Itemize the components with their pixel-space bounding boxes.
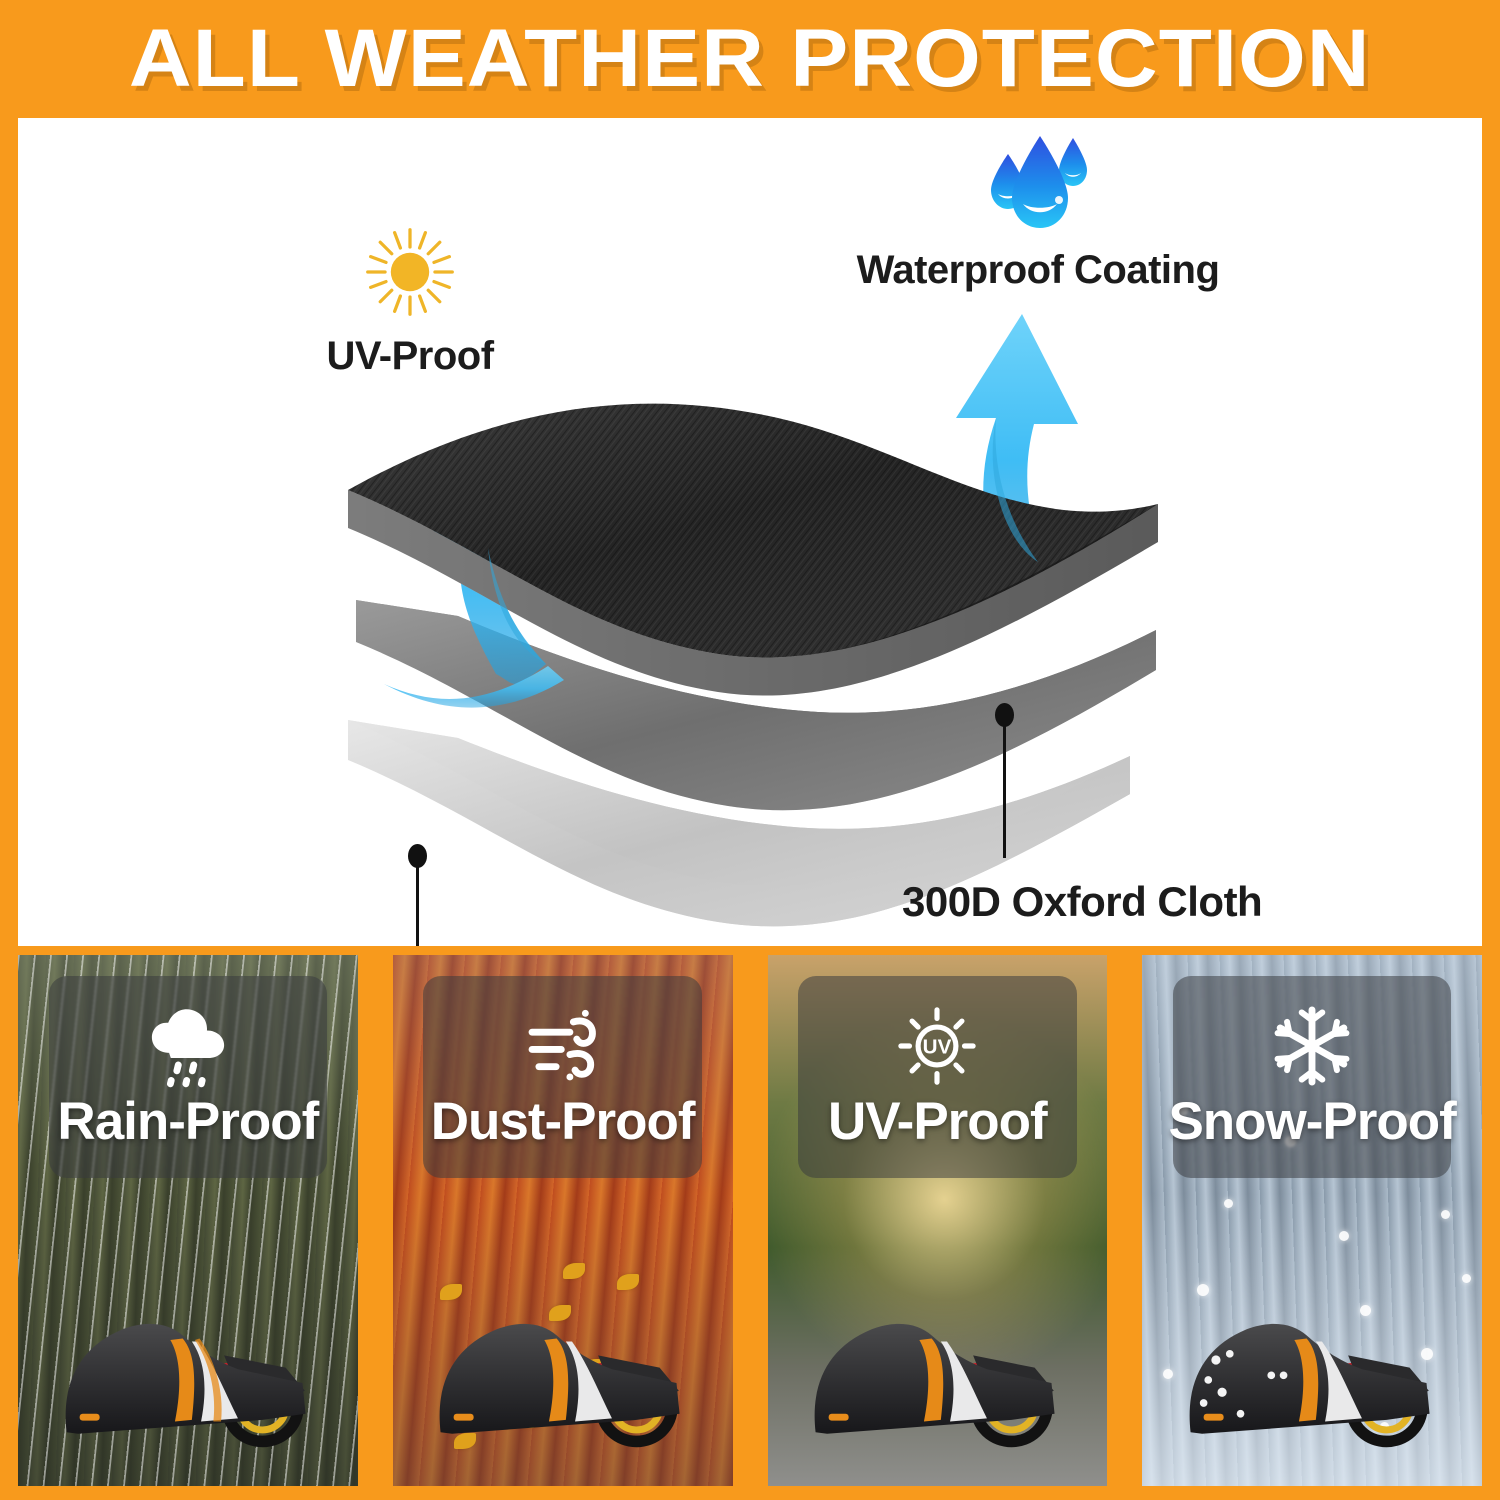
rain-proof-badge: Rain-Proof xyxy=(49,976,328,1178)
page-title: ALL WEATHER PROTECTION xyxy=(129,12,1371,106)
uv-proof-callout: UV-Proof xyxy=(280,224,540,379)
snow-proof-label: Snow-Proof xyxy=(1168,1091,1455,1152)
covered-motorcycle-illustration xyxy=(1156,1199,1479,1486)
water-drops-icon xyxy=(978,130,1098,240)
fabric-layers-diagram: UV-Proof xyxy=(18,118,1482,946)
covered-motorcycle-illustration xyxy=(781,1199,1104,1486)
uv-proof-photo-label: UV-Proof xyxy=(828,1091,1047,1152)
snowflake-icon xyxy=(1269,1003,1355,1089)
product-infographic: ALL WEATHER PROTECTION xyxy=(0,0,1500,1500)
rain-proof-label: Rain-Proof xyxy=(57,1091,318,1152)
oxford-callout-line xyxy=(1003,718,1006,858)
scene-card-snow[interactable]: Snow-Proof xyxy=(1128,955,1500,1500)
scene-card-dust[interactable]: Dust-Proof xyxy=(379,955,747,1500)
oxford-cloth-label: 300D Oxford Cloth xyxy=(902,878,1262,926)
svg-text:UV: UV xyxy=(923,1035,952,1058)
scene-card-rain[interactable]: Rain-Proof xyxy=(0,955,372,1500)
uv-proof-badge: UV UV-Proof xyxy=(798,976,1077,1178)
pu-callout-line xyxy=(416,860,419,946)
header-banner: ALL WEATHER PROTECTION xyxy=(0,0,1500,118)
dust-proof-label: Dust-Proof xyxy=(431,1091,695,1152)
scene-card-uv[interactable]: UV UV-Proof xyxy=(754,955,1122,1500)
dust-proof-badge: Dust-Proof xyxy=(423,976,702,1178)
uv-sun-icon: UV xyxy=(894,1003,980,1089)
covered-motorcycle-illustration xyxy=(32,1199,355,1486)
uv-proof-label: UV-Proof xyxy=(280,334,540,379)
wind-icon xyxy=(520,1003,606,1089)
covered-motorcycle-illustration xyxy=(406,1199,729,1486)
weather-scenes-row: Rain-Proof xyxy=(0,955,1500,1500)
rain-cloud-icon xyxy=(145,1003,231,1089)
snow-proof-badge: Snow-Proof xyxy=(1173,976,1452,1178)
waterproof-callout: Waterproof Coating xyxy=(758,130,1318,293)
waterproof-coating-label: Waterproof Coating xyxy=(758,248,1318,293)
sun-icon xyxy=(362,224,458,320)
